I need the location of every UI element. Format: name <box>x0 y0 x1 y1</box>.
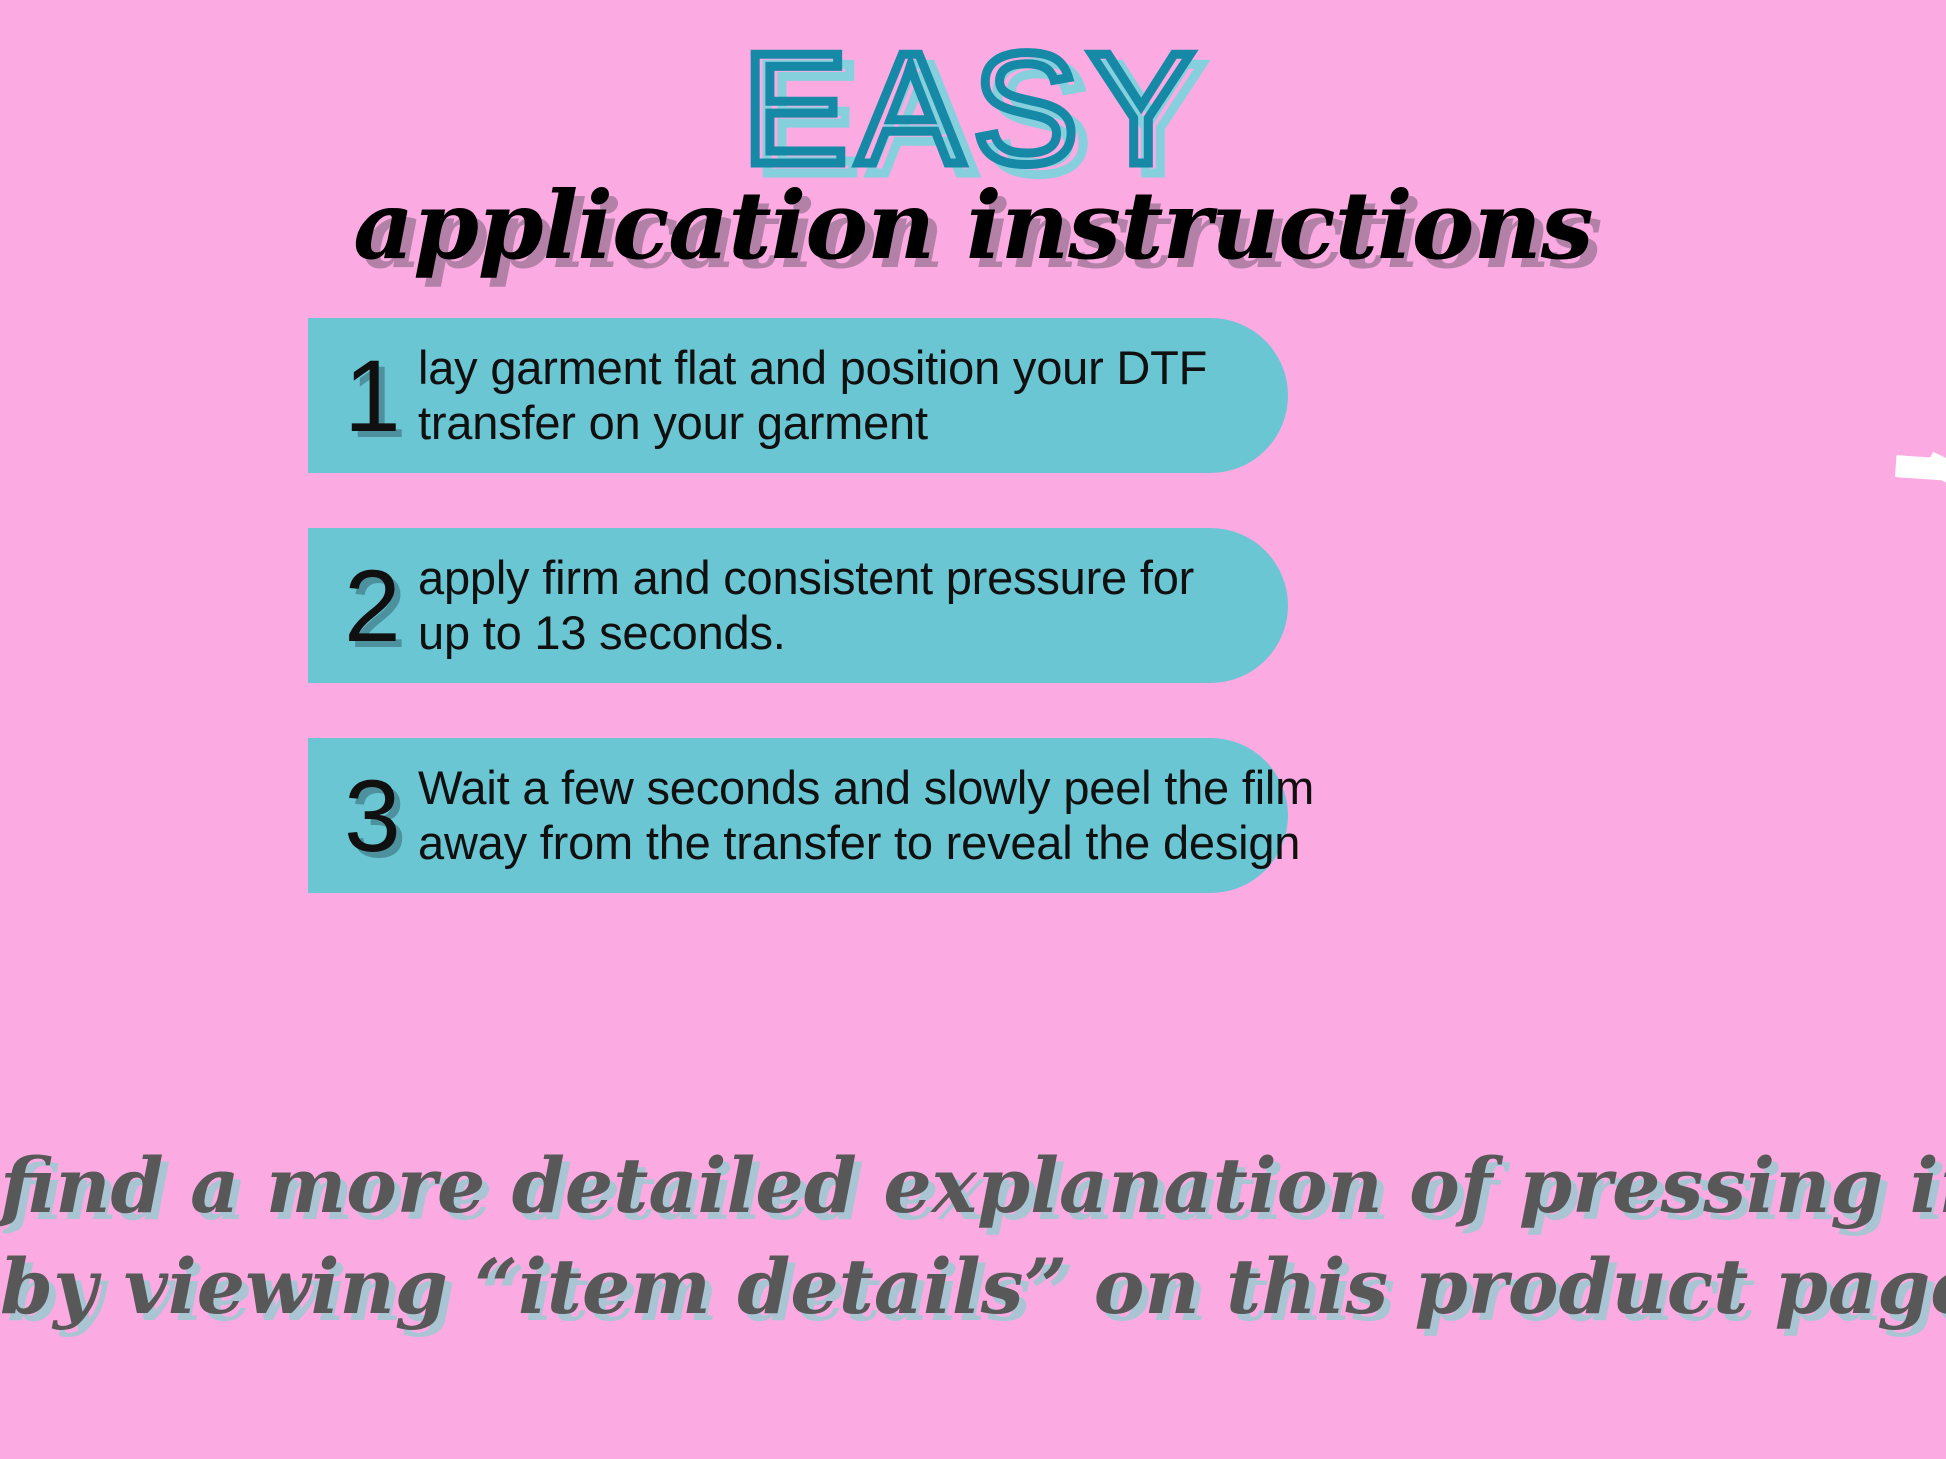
subtitle-application-instructions: application instructions <box>0 176 1946 278</box>
step-text-2-line-1: apply firm and consistent pressure for <box>418 551 1288 606</box>
headline-easy: EASY EASY <box>0 6 1946 176</box>
footer-line-1: find a more detailed explanation of pres… <box>0 1135 1946 1236</box>
step-number-3: 3 <box>344 765 418 867</box>
step-text-2-line-2: up to 13 seconds. <box>418 606 1288 661</box>
step-text-1-line-1: lay garment flat and position your DTF <box>418 341 1288 396</box>
instruction-step-3: 3 Wait a few seconds and slowly peel the… <box>308 738 1288 893</box>
step-number-2: 2 <box>344 555 418 657</box>
step-text-3: Wait a few seconds and slowly peel the f… <box>418 761 1314 871</box>
instruction-step-1: 1 lay garment flat and position your DTF… <box>308 318 1288 473</box>
step-text-2: apply firm and consistent pressure for u… <box>418 551 1288 661</box>
sunburst-dash <box>1895 456 1946 499</box>
poster-canvas: EASY EASY application instructions 1 lay… <box>0 0 1946 1459</box>
step-text-3-line-2: away from the transfer to reveal the des… <box>418 816 1314 871</box>
footer-line-2: by viewing “item details” on this produc… <box>0 1236 1946 1337</box>
step-text-1: lay garment flat and position your DTF t… <box>418 341 1288 451</box>
instruction-step-2: 2 apply firm and consistent pressure for… <box>308 528 1288 683</box>
headline-easy-outline: EASY <box>0 30 1946 188</box>
instruction-steps-list: 1 lay garment flat and position your DTF… <box>308 318 1288 948</box>
sunburst-dash <box>1923 451 1946 589</box>
step-number-1: 1 <box>344 345 418 447</box>
footer-note: find a more detailed explanation of pres… <box>0 1135 1946 1337</box>
step-text-1-line-2: transfer on your garment <box>418 396 1288 451</box>
step-text-3-line-1: Wait a few seconds and slowly peel the f… <box>418 761 1314 816</box>
